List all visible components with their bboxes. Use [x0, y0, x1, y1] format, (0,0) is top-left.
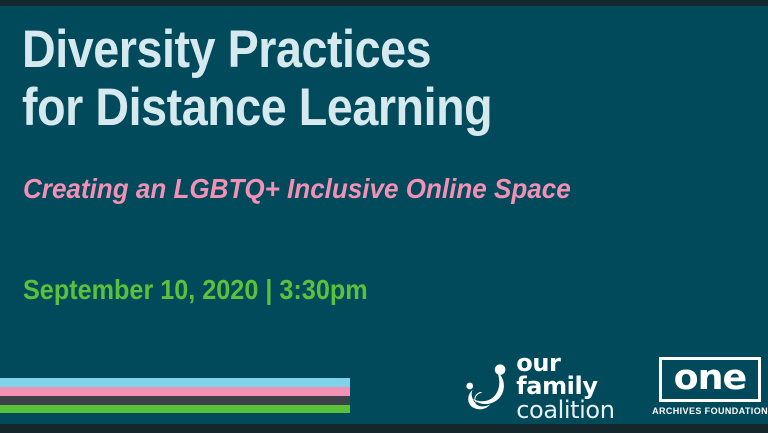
letterbox-bar-top [0, 0, 768, 6]
our-family-coalition-wordmark: our family coalition [516, 352, 640, 421]
one-archives-subtitle: ARCHIVES FOUNDATION [652, 406, 768, 416]
headline-line-2: for Distance Learning [22, 79, 568, 137]
logo-row: our family coalition one ARCHIVES FOUNDA… [462, 352, 768, 421]
stripe-dark-slate [0, 396, 350, 405]
page-subtitle: Creating an LGBTQ+ Inclusive Online Spac… [23, 173, 571, 205]
stripe-pink [0, 387, 350, 396]
letterbox-bar-bottom [0, 424, 768, 433]
event-promo-slide: Diversity Practices for Distance Learnin… [0, 0, 768, 433]
one-wordmark: one [674, 361, 746, 396]
ofc-word-line-1: our family [516, 352, 640, 398]
page-title: Diversity Practices for Distance Learnin… [22, 21, 642, 137]
one-wordmark-box: one [659, 357, 761, 402]
ofc-word-line-2: coalition [516, 399, 640, 422]
one-archives-foundation-logo: one ARCHIVES FOUNDATION [652, 357, 768, 416]
stripe-green [0, 405, 350, 413]
decorative-stripe-bar [0, 378, 350, 413]
stripe-light-blue [0, 378, 350, 387]
our-family-coalition-logo: our family coalition [462, 352, 640, 421]
event-datetime: September 10, 2020 | 3:30pm [23, 274, 368, 306]
headline-line-1: Diversity Practices [22, 21, 568, 79]
swirl-dots-icon [462, 362, 510, 412]
